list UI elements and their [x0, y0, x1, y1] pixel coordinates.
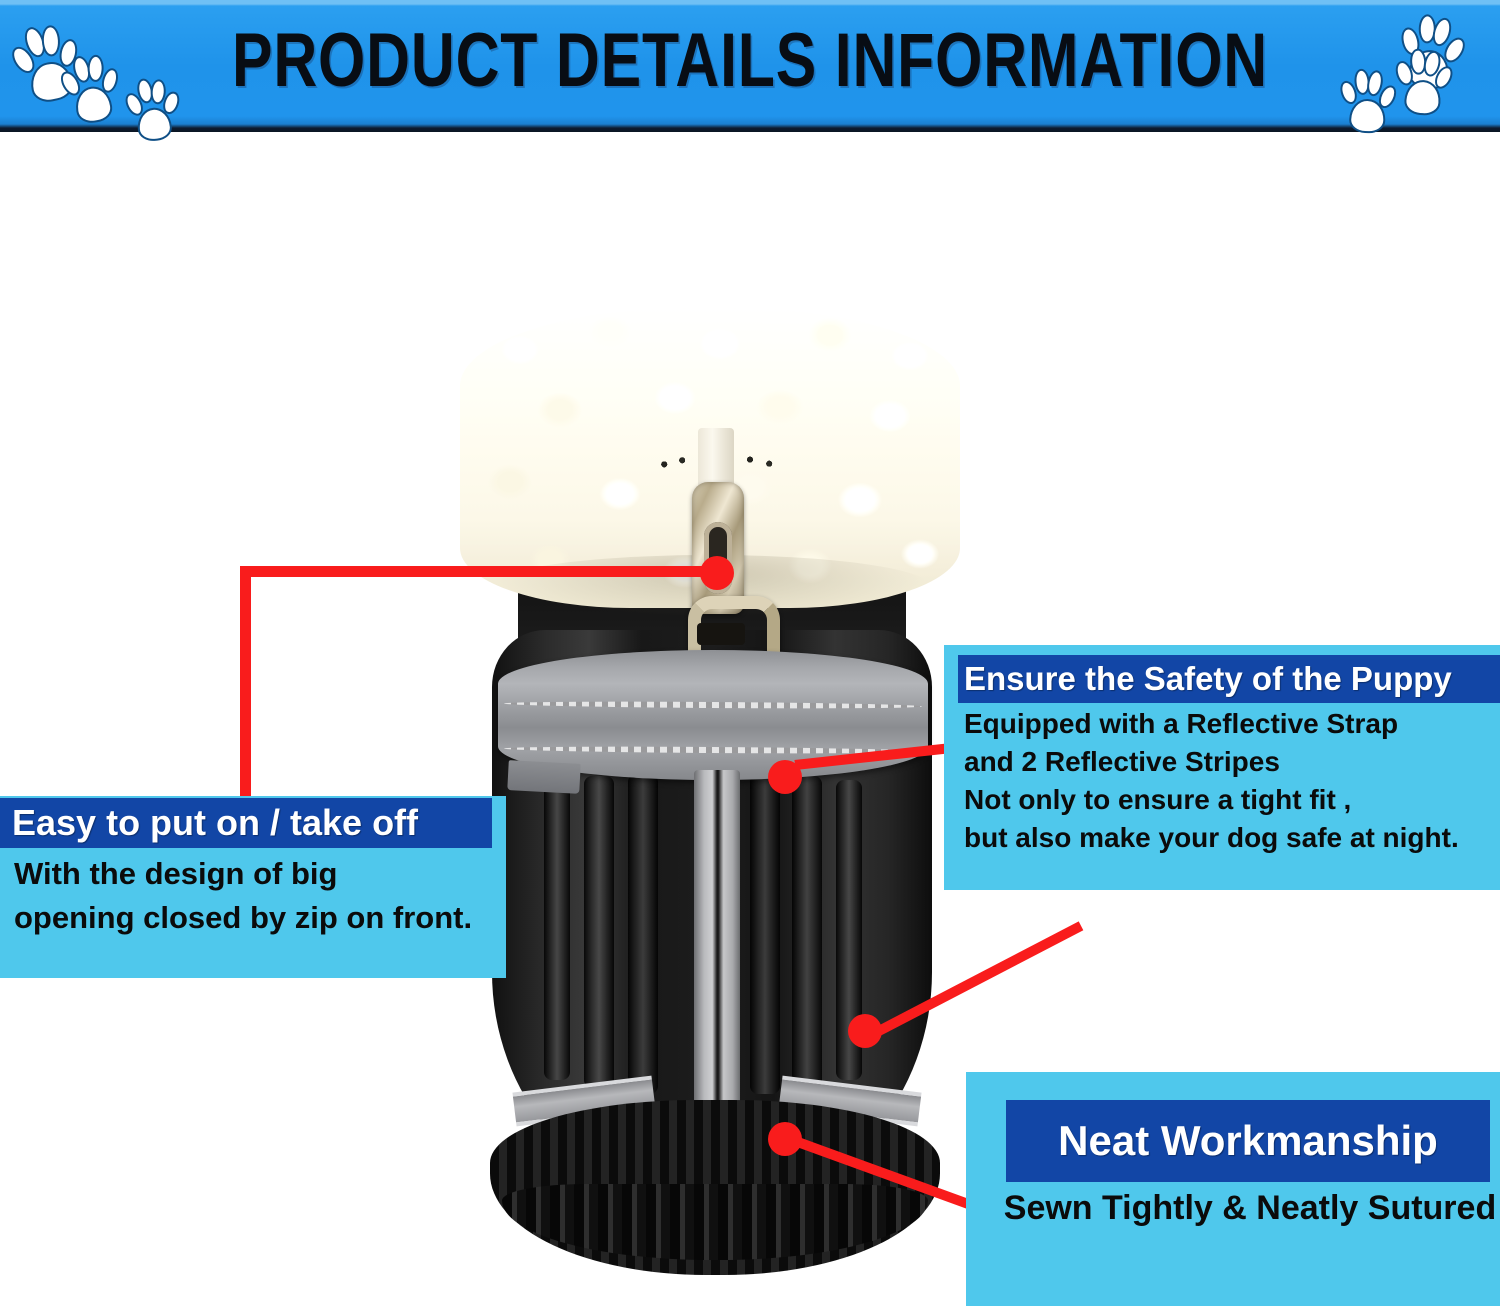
boot-rib [792, 776, 822, 1088]
banner-inner: PRODUCT DETAILS INFORMATION [0, 4, 1500, 124]
callout-body-line: and 2 Reflective Stripes [964, 743, 1500, 781]
strap-end-tab [507, 760, 580, 794]
paw-toe [87, 55, 103, 82]
zipper-pull [692, 482, 744, 614]
page-title: PRODUCT DETAILS INFORMATION [150, 18, 1350, 104]
callout-body-line: Equipped with a Reflective Strap [964, 705, 1500, 743]
boot-rib [628, 774, 658, 1094]
callout-body-easy-on-off: With the design of big opening closed by… [14, 852, 494, 940]
callout-dot-zipper [700, 556, 734, 590]
callout-heading-safety: Ensure the Safety of the Puppy [958, 655, 1500, 703]
callout-body-line: Sewn Tightly & Neatly Sutured [996, 1184, 1500, 1232]
boot-rib [750, 774, 780, 1094]
leader-line-easy-on-off [240, 566, 718, 577]
callout-body-line: but also make your dog safe at night. [964, 819, 1500, 857]
callout-body-workmanship: Sewn Tightly & Neatly Sutured [996, 1184, 1500, 1232]
callout-easy-on-off: Easy to put on / take off With the desig… [0, 796, 506, 978]
infographic-page: PRODUCT DETAILS INFORMATION [0, 0, 1500, 1306]
header-banner: PRODUCT DETAILS INFORMATION [0, 0, 1500, 132]
callout-body-line: With the design of big [14, 852, 494, 896]
boot-rib [544, 780, 570, 1080]
callout-body-line: opening closed by zip on front. [14, 896, 494, 940]
paw-print-icon [58, 49, 121, 124]
paw-print-icon [1393, 44, 1451, 114]
callout-dot-sole-stitching [768, 1122, 802, 1156]
callout-safety: Ensure the Safety of the Puppy Equipped … [944, 645, 1500, 890]
callout-body-safety: Equipped with a Reflective Strap and 2 R… [964, 705, 1500, 857]
callout-dot-reflective-stripe [848, 1014, 882, 1048]
boot-rib [584, 776, 614, 1088]
product-image-dog-boot [450, 300, 990, 1300]
callout-heading-workmanship: Neat Workmanship [1006, 1100, 1490, 1182]
paw-toe [41, 25, 60, 56]
leader-line-easy-on-off-vertical [240, 566, 251, 802]
callout-heading-easy-on-off: Easy to put on / take off [0, 798, 492, 848]
callout-body-line: Not only to ensure a tight fit , [964, 781, 1500, 819]
callout-dot-reflective-strap [768, 760, 802, 794]
paw-pad [1349, 99, 1385, 134]
callout-workmanship: Neat Workmanship Sewn Tightly & Neatly S… [966, 1072, 1500, 1306]
zipper-teeth [654, 446, 782, 480]
